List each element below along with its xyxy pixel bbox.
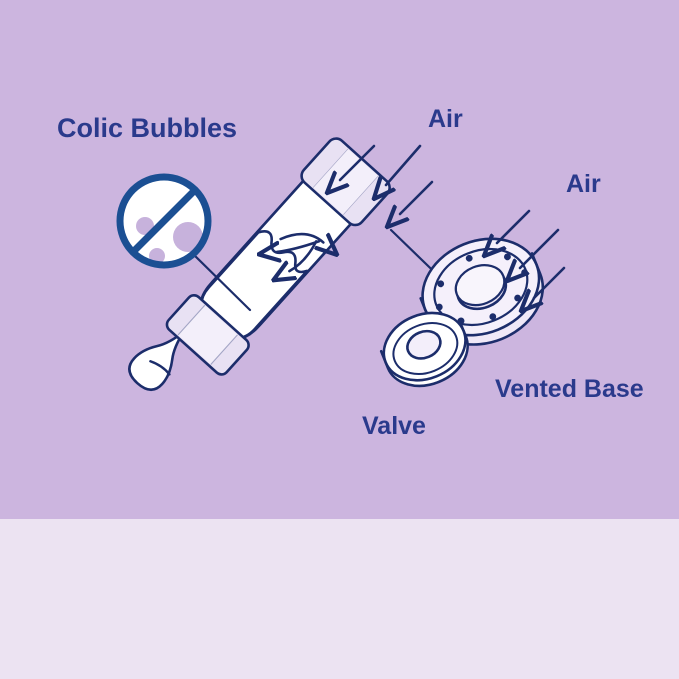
label-vented-base: Vented Base (495, 375, 644, 403)
infographic-card: Colic Bubbles Air Air Valve Vented Base … (0, 0, 679, 679)
caption-panel: Reduces Colic and Gas Patented Anti-Coli… (0, 519, 679, 679)
label-air-left: Air (428, 105, 463, 133)
label-valve: Valve (362, 412, 426, 440)
label-colic-bubbles: Colic Bubbles (57, 113, 237, 143)
label-air-right: Air (566, 170, 601, 198)
anti-colic-diagram: Colic Bubbles Air Air Valve Vented Base (0, 0, 679, 519)
illustration-panel: Colic Bubbles Air Air Valve Vented Base (0, 0, 679, 519)
